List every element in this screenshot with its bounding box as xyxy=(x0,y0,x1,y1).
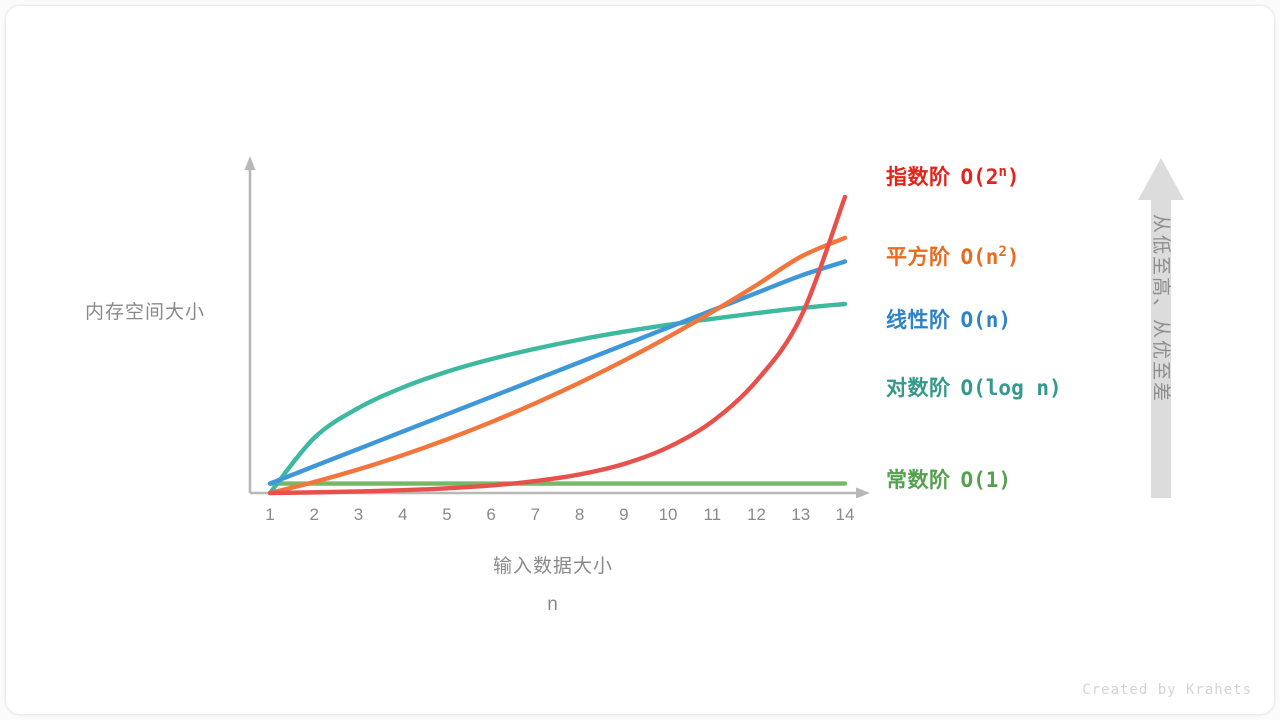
legend-item-常数阶: 常数阶O(1) xyxy=(886,470,1011,491)
y-axis-label: 内存空间大小 xyxy=(50,297,240,324)
data-curves xyxy=(270,197,845,493)
x-axis-title: 输入数据大小 n xyxy=(418,548,688,624)
legend-notation-exponent: n xyxy=(998,164,1006,180)
chart-stage: 1234567891011121314 内存空间大小 输入数据大小 n 指数阶O… xyxy=(6,6,1274,714)
quality-arrow xyxy=(1138,158,1184,498)
legend-item-平方阶: 平方阶O(n2) xyxy=(886,245,1020,268)
x-tick-label: 5 xyxy=(427,505,467,525)
legend-notation-exponent: 2 xyxy=(998,244,1006,260)
legend-item-指数阶: 指数阶O(2n) xyxy=(886,165,1020,188)
x-tick-label: 1 xyxy=(250,505,290,525)
y-axis xyxy=(245,156,256,493)
legend-notation: O(n2) xyxy=(961,245,1020,269)
x-tick-label: 3 xyxy=(338,505,378,525)
legend-notation: O(1) xyxy=(961,468,1012,492)
legend-item-对数阶: 对数阶O(log n) xyxy=(886,378,1062,399)
x-tick-label: 13 xyxy=(781,505,821,525)
x-axis-title-variable: n xyxy=(418,586,688,624)
arrow-up-icon xyxy=(1138,158,1184,498)
x-tick-label: 12 xyxy=(737,505,777,525)
legend-notation: O(n) xyxy=(961,308,1012,332)
legend-label: 对数阶 xyxy=(886,377,951,400)
legend-label: 常数阶 xyxy=(886,469,951,492)
legend-item-线性阶: 线性阶O(n) xyxy=(886,310,1011,331)
x-tick-label: 2 xyxy=(294,505,334,525)
x-axis-arrowhead xyxy=(856,488,870,499)
y-axis-arrowhead xyxy=(245,156,256,170)
legend-label: 平方阶 xyxy=(886,246,951,269)
curve-o-n- xyxy=(270,261,845,483)
x-tick-label: 14 xyxy=(825,505,865,525)
legend-notation: O(log n) xyxy=(961,376,1062,400)
x-tick-label: 7 xyxy=(515,505,555,525)
curve-o-n-2- xyxy=(270,238,845,493)
x-axis-title-main: 输入数据大小 xyxy=(493,556,613,577)
legend-notation: O(2n) xyxy=(961,165,1020,189)
credit-text: Created by Krahets xyxy=(1082,682,1252,698)
x-tick-label: 6 xyxy=(471,505,511,525)
chart-card: 1234567891011121314 内存空间大小 输入数据大小 n 指数阶O… xyxy=(6,6,1274,714)
x-tick-label: 10 xyxy=(648,505,688,525)
legend-label: 指数阶 xyxy=(886,166,951,189)
x-tick-label: 4 xyxy=(383,505,423,525)
x-tick-label: 11 xyxy=(692,505,732,525)
curve-o-log-n- xyxy=(270,304,845,493)
x-tick-label: 8 xyxy=(560,505,600,525)
legend-label: 线性阶 xyxy=(886,309,951,332)
x-tick-label: 9 xyxy=(604,505,644,525)
